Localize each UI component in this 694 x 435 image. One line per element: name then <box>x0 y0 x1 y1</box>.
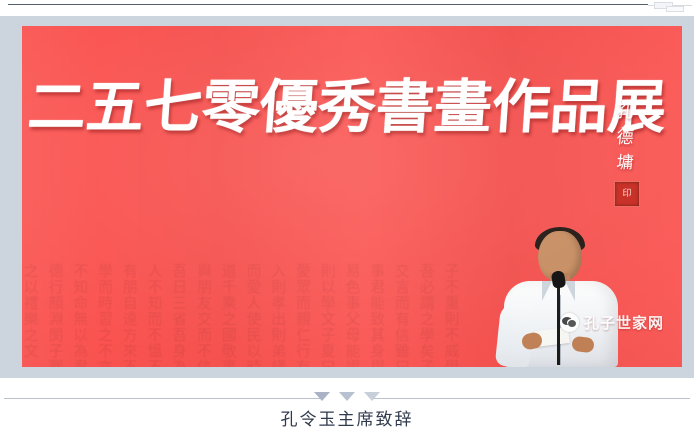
watermark-label: 孔子世家网 <box>584 312 664 333</box>
calligraphy-column: 吾日三省吾身為人謀而不忠乎 <box>171 263 187 367</box>
banner-char: 零 <box>200 78 262 136</box>
banner-headline: 二 五 七 零 優 秀 書 畫 作 品 展 <box>28 78 628 136</box>
calligraphy-column: 交言而有信雖曰未學 <box>393 263 409 367</box>
calligraphy-column: 學而時習之不亦說乎 <box>96 263 112 367</box>
banner-char: 畫 <box>432 78 494 136</box>
calligraphy-column: 愛眾而親仁行有餘力 <box>294 263 310 367</box>
fragment-box-lower <box>666 6 684 12</box>
banner-char: 七 <box>142 78 204 136</box>
top-right-ui-fragment <box>648 1 692 13</box>
calligraphy-column: 德行顏淵閔子騫 <box>47 263 63 367</box>
calligraphy-column: 而愛人使民以時子曰弟子 <box>245 263 261 367</box>
banner-char: 書 <box>374 78 436 136</box>
chevron-down-icon <box>364 392 380 401</box>
calligraphy-column: 易色事父母能竭其力 <box>344 263 360 367</box>
banner-char: 五 <box>84 78 146 136</box>
speaker-collar-right <box>565 281 575 301</box>
divider-rule-left <box>4 398 320 399</box>
section-divider <box>0 392 694 406</box>
top-horizontal-rule <box>8 4 648 5</box>
divider-rule-right <box>374 398 690 399</box>
divider-arrow-group <box>314 392 380 401</box>
calligraphy-column: 人不知而不慍不亦君子乎 <box>146 263 162 367</box>
banner-char: 優 <box>258 78 320 136</box>
calligraphy-column: 入則孝出則弟謹而信汎 <box>270 263 286 367</box>
banner-char: 秀 <box>316 78 378 136</box>
calligraphy-column: 道千乘之國敬事而信節用 <box>220 263 236 367</box>
photo-frame: 之以禮樂之文 德行顏淵閔子騫 不知命無以為君子 學而時習之不亦說乎 有朋自遠方來… <box>0 16 694 378</box>
signature-char: 德 <box>607 126 644 152</box>
article-photo[interactable]: 之以禮樂之文 德行顏淵閔子騫 不知命無以為君子 學而時習之不亦說乎 有朋自遠方來… <box>22 26 682 367</box>
calligraphy-column: 之以禮樂之文 <box>22 263 38 367</box>
calligraphy-column: 子不重則不威學則不固 <box>443 263 459 367</box>
signature-char: 孔 <box>607 100 644 126</box>
calligraphy-column: 事君能致其身與朋友 <box>369 263 385 367</box>
wechat-logo-icon <box>560 313 579 332</box>
speaker-figure <box>486 225 636 367</box>
calligraphy-column: 有朋自遠方來不亦樂乎 <box>121 263 137 367</box>
calligraphy-column: 不知命無以為君子 <box>72 263 88 367</box>
speaker-collar-left <box>542 281 552 301</box>
red-seal-stamp: 印 <box>614 181 640 207</box>
photo-caption: 孔令玉主席致辞 <box>0 408 694 432</box>
watermark: 孔子世家网 <box>560 312 664 333</box>
calligraphy-column: 與朋友交而不信乎傳不習乎 <box>195 263 211 367</box>
chevron-down-icon <box>339 392 355 401</box>
banner-char: 品 <box>548 78 610 136</box>
banner-char: 作 <box>490 78 552 136</box>
calligraphy-column: 吾必謂之學矣子曰君 <box>418 263 434 367</box>
calligraphy-column: 則以學文子夏曰賢賢 <box>319 263 335 367</box>
banner-signature: 孔 德 墉 <box>608 100 642 177</box>
chevron-down-icon <box>314 392 330 401</box>
signature-char: 墉 <box>607 151 644 177</box>
banner-char: 二 <box>26 78 88 136</box>
